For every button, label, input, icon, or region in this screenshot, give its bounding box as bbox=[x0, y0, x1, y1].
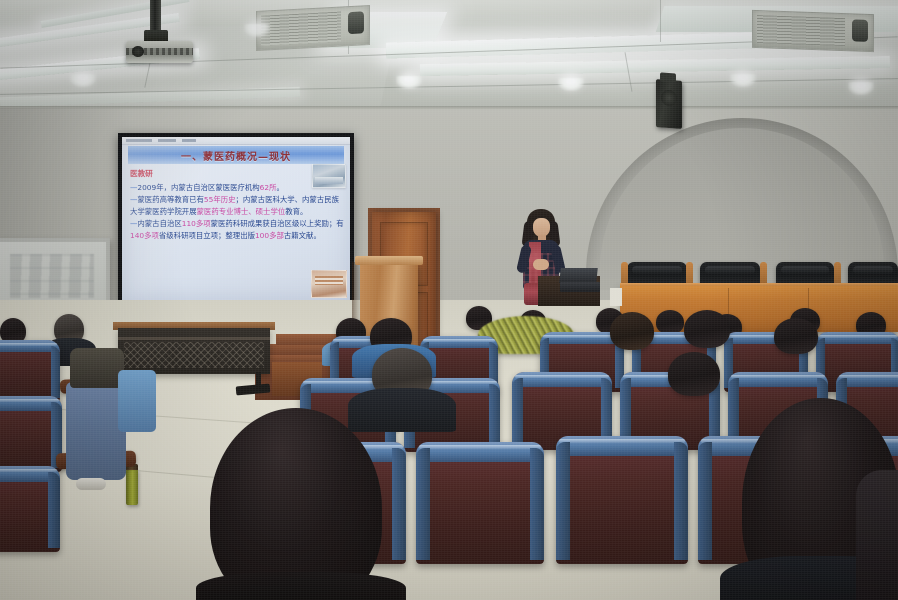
audience-head bbox=[610, 312, 654, 350]
lecture-hall-photo: 一、蒙医药概况—现状 医教研 —2009年，内蒙古自治区蒙医医疗机构62所。 —… bbox=[0, 0, 898, 600]
whiteboard-writing bbox=[10, 254, 94, 298]
slide-image-books bbox=[311, 270, 347, 298]
radiator-rail bbox=[118, 337, 270, 340]
speaker-cone-icon bbox=[661, 89, 677, 106]
auditorium-seat[interactable] bbox=[416, 442, 544, 564]
air-conditioning-vent bbox=[752, 10, 874, 52]
projector-lens bbox=[132, 46, 144, 57]
slide-image-building bbox=[312, 164, 346, 188]
thermos-bottle[interactable] bbox=[126, 469, 138, 505]
foreground-attendee-shoulders bbox=[196, 572, 406, 600]
lectern-top bbox=[355, 256, 423, 265]
slide-title: 一、蒙医药概况—现状 bbox=[128, 146, 344, 164]
audience-legs bbox=[118, 370, 156, 432]
slide-bullet-3: —内蒙古自治区110多项蒙医药科研成果获自治区级以上奖励；有140多项省级科研项… bbox=[130, 218, 344, 241]
foreground-attendee-body bbox=[856, 470, 898, 600]
recessed-downlight bbox=[70, 74, 96, 87]
speaker-bracket bbox=[660, 72, 676, 82]
ceiling-light-strip bbox=[420, 56, 890, 76]
recessed-downlight bbox=[848, 82, 874, 95]
ceiling-projector bbox=[126, 41, 193, 63]
auditorium-seat[interactable] bbox=[0, 466, 60, 552]
audience-head bbox=[684, 310, 730, 348]
audience-seated-legs bbox=[66, 382, 126, 480]
recessed-downlight bbox=[396, 76, 422, 89]
auditorium-seat[interactable] bbox=[556, 436, 688, 564]
wall-speaker bbox=[656, 79, 682, 129]
presenter-hands bbox=[533, 259, 549, 270]
projection-screen: 一、蒙医药概况—现状 医教研 —2009年，内蒙古自治区蒙医医疗机构62所。 —… bbox=[122, 137, 350, 301]
projection-screen-frame: 一、蒙医药概况—现状 医教研 —2009年，内蒙古自治区蒙医医疗机构62所。 —… bbox=[118, 133, 354, 305]
powerpoint-toolbar bbox=[122, 137, 350, 145]
slide-bullet-2: —蒙医药高等教育已有55年历史；内蒙古医科大学、内蒙古民族大学蒙医药学院开展蒙医… bbox=[130, 194, 344, 217]
audience-head bbox=[668, 352, 720, 396]
audience-head bbox=[656, 310, 684, 334]
projector-mount-pole bbox=[150, 0, 161, 34]
radiator-mesh bbox=[124, 342, 264, 368]
laptop-screen[interactable] bbox=[559, 268, 598, 283]
audience-torso bbox=[70, 348, 124, 388]
auditorium-seat[interactable] bbox=[0, 340, 60, 402]
auditorium-seat[interactable] bbox=[0, 396, 62, 472]
audience-shoe bbox=[76, 478, 106, 490]
recessed-downlight bbox=[244, 24, 270, 37]
ceiling bbox=[0, 0, 898, 122]
recessed-downlight bbox=[558, 78, 584, 91]
radiator-cover bbox=[118, 328, 270, 374]
wall-cornice bbox=[0, 106, 898, 110]
laptop-base[interactable] bbox=[560, 282, 600, 292]
air-conditioning-vent bbox=[256, 5, 370, 51]
audience-shoulders bbox=[348, 388, 456, 432]
audience-head bbox=[774, 318, 818, 354]
table-paper bbox=[610, 288, 622, 306]
recessed-downlight bbox=[730, 74, 756, 87]
